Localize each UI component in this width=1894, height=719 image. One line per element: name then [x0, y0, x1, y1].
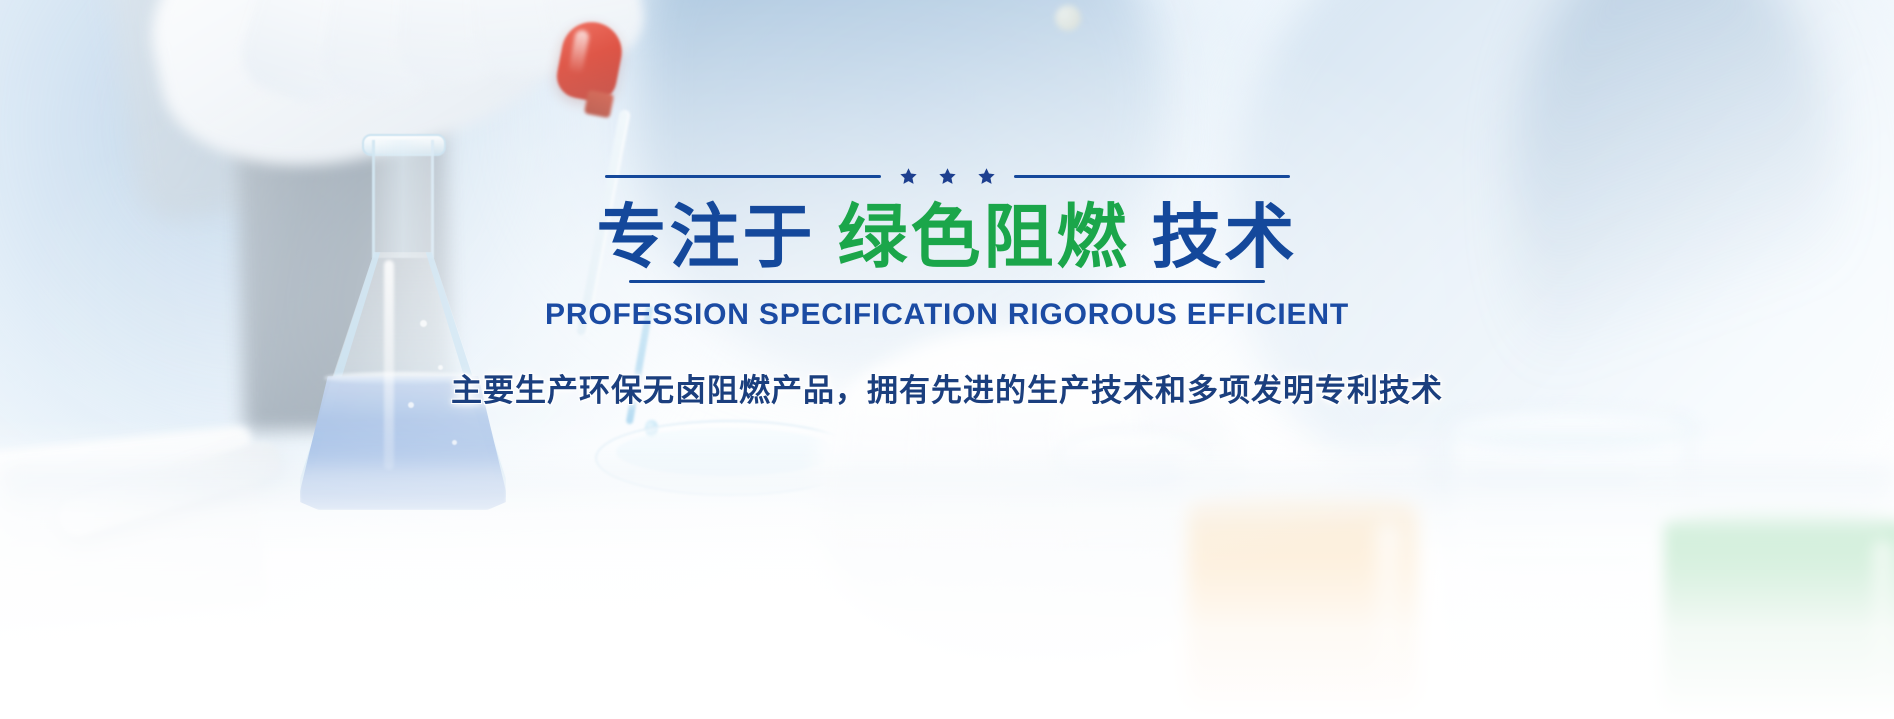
banner-content: 专注于绿色阻燃技术 PROFESSION SPECIFICATION RIGOR…: [0, 0, 1894, 719]
headline: 专注于绿色阻燃技术: [397, 200, 1497, 274]
headline-part-3: 技术: [1152, 198, 1298, 276]
star-group: [899, 167, 996, 186]
headline-part-2: 绿色阻燃: [838, 198, 1130, 276]
headline-part-1: 专注于: [597, 198, 816, 276]
divider-rule-right: [1014, 175, 1290, 178]
divider-rule-left: [605, 175, 881, 178]
banner-text-block: 专注于绿色阻燃技术 PROFESSION SPECIFICATION RIGOR…: [397, 165, 1497, 410]
star-icon: [899, 167, 918, 186]
banner-root: 专注于绿色阻燃技术 PROFESSION SPECIFICATION RIGOR…: [0, 0, 1894, 719]
tagline-chinese: 主要生产环保无卤阻燃产品，拥有先进的生产技术和多项发明专利技术: [397, 365, 1497, 410]
star-icon: [938, 167, 957, 186]
star-icon: [977, 167, 996, 186]
subtitle-english: PROFESSION SPECIFICATION RIGOROUS EFFICI…: [397, 298, 1497, 332]
headline-underline: [629, 280, 1265, 283]
divider-with-stars: [397, 165, 1497, 187]
